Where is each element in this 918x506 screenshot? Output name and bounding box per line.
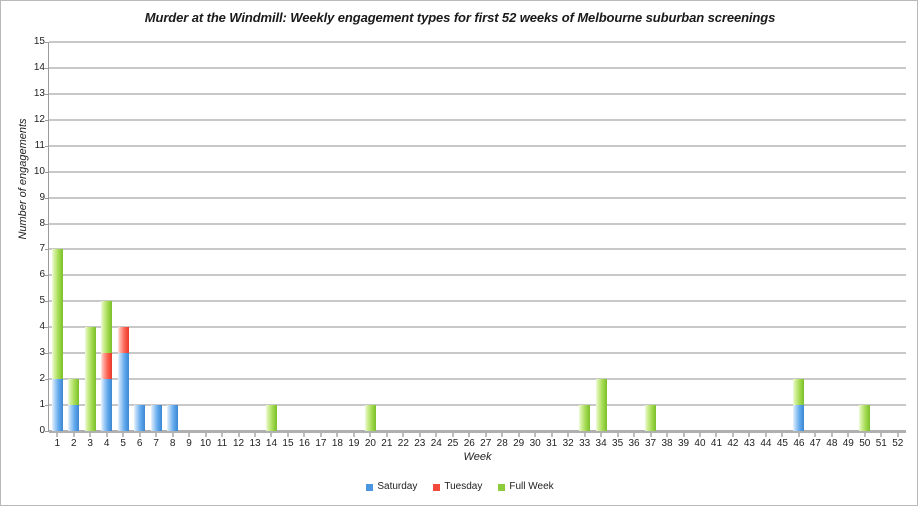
legend-item-tuesday[interactable]: Tuesday bbox=[433, 482, 482, 492]
bar-segment-saturday[interactable] bbox=[793, 405, 804, 431]
bar-segment-saturday[interactable] bbox=[118, 353, 129, 431]
bar-group[interactable] bbox=[530, 42, 541, 431]
bar-group[interactable] bbox=[167, 42, 178, 431]
bar-segment-tuesday[interactable] bbox=[101, 353, 112, 379]
plot-area bbox=[49, 42, 906, 431]
x-tick-mark bbox=[402, 433, 404, 437]
x-tick-mark bbox=[205, 433, 207, 437]
y-tick-label: 0 bbox=[5, 426, 45, 436]
bar-group[interactable] bbox=[85, 42, 96, 431]
x-tick-mark bbox=[139, 433, 141, 437]
bar-group[interactable] bbox=[744, 42, 755, 431]
legend-swatch-icon bbox=[366, 484, 373, 491]
y-axis-ticks: 0123456789101112131415 bbox=[1, 1, 45, 506]
bar-group[interactable] bbox=[447, 42, 458, 431]
bar-group[interactable] bbox=[727, 42, 738, 431]
bar-group[interactable] bbox=[151, 42, 162, 431]
bar-group[interactable] bbox=[68, 42, 79, 431]
x-tick-mark bbox=[435, 433, 437, 437]
bar-group[interactable] bbox=[365, 42, 376, 431]
bar-group[interactable] bbox=[876, 42, 887, 431]
bar-group[interactable] bbox=[414, 42, 425, 431]
bar-segment-full-week[interactable] bbox=[52, 249, 63, 379]
bar-group[interactable] bbox=[431, 42, 442, 431]
x-tick-mark bbox=[221, 433, 223, 437]
y-tick-label: 5 bbox=[5, 296, 45, 306]
chart-legend: SaturdayTuesdayFull Week bbox=[1, 482, 918, 492]
y-tick-label: 2 bbox=[5, 374, 45, 384]
bar-segment-saturday[interactable] bbox=[151, 405, 162, 431]
bar-group[interactable] bbox=[52, 42, 63, 431]
x-tick-mark bbox=[650, 433, 652, 437]
legend-item-saturday[interactable]: Saturday bbox=[366, 482, 417, 492]
bar-group[interactable] bbox=[546, 42, 557, 431]
bar-segment-saturday[interactable] bbox=[68, 405, 79, 431]
x-tick-mark bbox=[897, 433, 899, 437]
x-tick-mark bbox=[699, 433, 701, 437]
legend-item-full-week[interactable]: Full Week bbox=[498, 482, 553, 492]
x-tick-mark bbox=[534, 433, 536, 437]
bar-group[interactable] bbox=[892, 42, 903, 431]
bar-segment-full-week[interactable] bbox=[579, 405, 590, 431]
bar-group[interactable] bbox=[579, 42, 590, 431]
x-tick-mark bbox=[600, 433, 602, 437]
x-tick-mark bbox=[369, 433, 371, 437]
x-tick-mark bbox=[468, 433, 470, 437]
x-tick-mark bbox=[732, 433, 734, 437]
legend-label: Saturday bbox=[377, 482, 417, 492]
x-tick-mark bbox=[567, 433, 569, 437]
y-tick-label: 4 bbox=[5, 322, 45, 332]
bar-group[interactable] bbox=[101, 42, 112, 431]
y-tick-label: 6 bbox=[5, 270, 45, 280]
x-tick-mark bbox=[617, 433, 619, 437]
bar-segment-full-week[interactable] bbox=[85, 327, 96, 431]
x-tick-mark bbox=[765, 433, 767, 437]
x-tick-mark bbox=[715, 433, 717, 437]
bar-group[interactable] bbox=[563, 42, 574, 431]
bar-segment-tuesday[interactable] bbox=[118, 327, 129, 353]
bar-group[interactable] bbox=[711, 42, 722, 431]
bar-segment-full-week[interactable] bbox=[266, 405, 277, 431]
x-tick-mark bbox=[518, 433, 520, 437]
legend-swatch-icon bbox=[498, 484, 505, 491]
bar-group[interactable] bbox=[299, 42, 310, 431]
x-tick-mark bbox=[485, 433, 487, 437]
legend-label: Tuesday bbox=[444, 482, 482, 492]
x-tick-mark bbox=[666, 433, 668, 437]
x-tick-mark bbox=[122, 433, 124, 437]
x-tick-mark bbox=[683, 433, 685, 437]
bar-group[interactable] bbox=[266, 42, 277, 431]
x-tick-label: 52 bbox=[887, 438, 909, 450]
bar-group[interactable] bbox=[233, 42, 244, 431]
x-tick-mark bbox=[419, 433, 421, 437]
x-tick-mark bbox=[270, 433, 272, 437]
bar-group[interactable] bbox=[398, 42, 409, 431]
x-tick-mark bbox=[254, 433, 256, 437]
x-tick-mark bbox=[781, 433, 783, 437]
x-tick-mark bbox=[452, 433, 454, 437]
bar-group[interactable] bbox=[662, 42, 673, 431]
bar-group[interactable] bbox=[645, 42, 656, 431]
bar-group[interactable] bbox=[217, 42, 228, 431]
y-tick-label: 14 bbox=[5, 63, 45, 73]
bar-group[interactable] bbox=[282, 42, 293, 431]
bar-segment-full-week[interactable] bbox=[793, 379, 804, 405]
bar-segment-saturday[interactable] bbox=[52, 379, 63, 431]
chart-title: Murder at the Windmill: Weekly engagemen… bbox=[1, 10, 918, 25]
x-tick-mark bbox=[320, 433, 322, 437]
bar-group[interactable] bbox=[826, 42, 837, 431]
x-tick-mark bbox=[73, 433, 75, 437]
bar-group[interactable] bbox=[760, 42, 771, 431]
bar-group[interactable] bbox=[612, 42, 623, 431]
bar-group[interactable] bbox=[596, 42, 607, 431]
bar-group[interactable] bbox=[134, 42, 145, 431]
y-axis-title: Number of engagements bbox=[17, 114, 29, 244]
x-tick-mark bbox=[633, 433, 635, 437]
x-tick-mark bbox=[89, 433, 91, 437]
bar-segment-full-week[interactable] bbox=[645, 405, 656, 431]
x-tick-mark bbox=[798, 433, 800, 437]
legend-swatch-icon bbox=[433, 484, 440, 491]
bar-group[interactable] bbox=[497, 42, 508, 431]
bar-group[interactable] bbox=[678, 42, 689, 431]
bar-segment-saturday[interactable] bbox=[167, 405, 178, 431]
bar-group[interactable] bbox=[777, 42, 788, 431]
x-tick-mark bbox=[106, 433, 108, 437]
y-tick-label: 7 bbox=[5, 244, 45, 254]
bar-group[interactable] bbox=[250, 42, 261, 431]
bar-segment-full-week[interactable] bbox=[68, 379, 79, 405]
x-tick-mark bbox=[880, 433, 882, 437]
x-tick-mark bbox=[501, 433, 503, 437]
x-axis-line bbox=[49, 431, 906, 433]
x-tick-mark bbox=[353, 433, 355, 437]
bar-group[interactable] bbox=[348, 42, 359, 431]
bar-group[interactable] bbox=[513, 42, 524, 431]
x-axis-title: Week bbox=[49, 451, 906, 463]
x-tick-mark bbox=[551, 433, 553, 437]
x-tick-mark bbox=[864, 433, 866, 437]
bar-group[interactable] bbox=[381, 42, 392, 431]
bar-group[interactable] bbox=[184, 42, 195, 431]
x-tick-mark bbox=[303, 433, 305, 437]
y-tick-label: 3 bbox=[5, 348, 45, 358]
bar-group[interactable] bbox=[315, 42, 326, 431]
bar-segment-full-week[interactable] bbox=[365, 405, 376, 431]
x-tick-mark bbox=[386, 433, 388, 437]
bar-group[interactable] bbox=[843, 42, 854, 431]
x-tick-mark bbox=[748, 433, 750, 437]
bar-segment-full-week[interactable] bbox=[101, 301, 112, 353]
x-tick-mark bbox=[814, 433, 816, 437]
bar-group[interactable] bbox=[629, 42, 640, 431]
x-tick-mark bbox=[188, 433, 190, 437]
y-tick-label: 15 bbox=[5, 37, 45, 47]
bar-segment-full-week[interactable] bbox=[596, 379, 607, 431]
bar-group[interactable] bbox=[694, 42, 705, 431]
x-tick-mark bbox=[584, 433, 586, 437]
bar-group[interactable] bbox=[118, 42, 129, 431]
y-tick-label: 1 bbox=[5, 400, 45, 410]
bar-group[interactable] bbox=[859, 42, 870, 431]
bar-group[interactable] bbox=[200, 42, 211, 431]
legend-label: Full Week bbox=[509, 482, 553, 492]
bar-segment-saturday[interactable] bbox=[101, 379, 112, 431]
bar-group[interactable] bbox=[793, 42, 804, 431]
x-tick-mark bbox=[847, 433, 849, 437]
bar-group[interactable] bbox=[480, 42, 491, 431]
bar-group[interactable] bbox=[810, 42, 821, 431]
bar-segment-full-week[interactable] bbox=[859, 405, 870, 431]
x-tick-mark bbox=[56, 433, 58, 437]
bar-group[interactable] bbox=[464, 42, 475, 431]
x-tick-mark bbox=[287, 433, 289, 437]
bar-group[interactable] bbox=[332, 42, 343, 431]
chart-container: Murder at the Windmill: Weekly engagemen… bbox=[0, 0, 918, 506]
x-tick-mark bbox=[336, 433, 338, 437]
bar-segment-saturday[interactable] bbox=[134, 405, 145, 431]
x-tick-mark bbox=[172, 433, 174, 437]
x-tick-mark bbox=[831, 433, 833, 437]
x-tick-mark bbox=[238, 433, 240, 437]
x-tick-mark bbox=[155, 433, 157, 437]
y-tick-label: 13 bbox=[5, 89, 45, 99]
